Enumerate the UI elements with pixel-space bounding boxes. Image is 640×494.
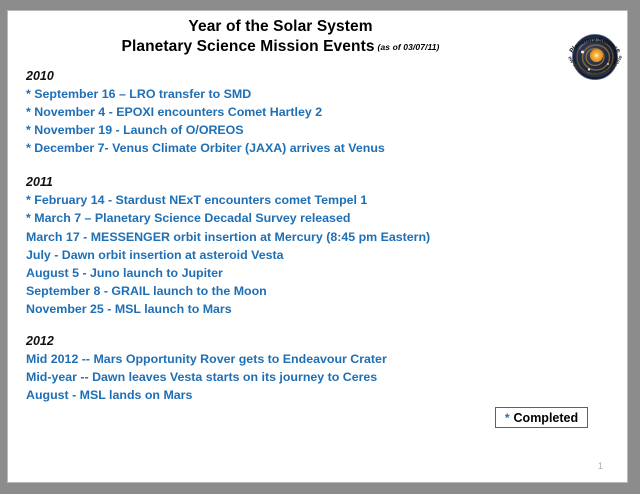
slide-page: Year of the Solar System Planetary Scien…: [7, 10, 628, 483]
page-number: 1: [598, 461, 603, 472]
as-of-date: (as of 03/07/11): [378, 42, 440, 52]
event-item: * December 7- Venus Climate Orbiter (JAX…: [26, 139, 616, 157]
screenshot-viewport: Year of the Solar System Planetary Scien…: [0, 0, 640, 494]
event-item: November 25 - MSL launch to Mars: [26, 300, 616, 318]
event-item: March 17 - MESSENGER orbit insertion at …: [26, 228, 616, 246]
event-item: * March 7 – Planetary Science Decadal Su…: [26, 209, 616, 227]
event-item: Mid 2012 -- Mars Opportunity Rover gets …: [26, 350, 616, 368]
logo-planet-dot-1: [581, 51, 584, 54]
legend-asterisk-icon: *: [505, 411, 510, 425]
event-item: * September 16 – LRO transfer to SMD: [26, 85, 616, 103]
logo-core: [590, 49, 603, 62]
year-heading-2011: 2011: [26, 173, 616, 191]
event-item: August 5 - Juno launch to Jupiter: [26, 264, 616, 282]
event-item: August - MSL lands on Mars: [26, 386, 616, 404]
event-item: July - Dawn orbit insertion at asteroid …: [26, 246, 616, 264]
event-item: * November 19 - Launch of O/OREOS: [26, 121, 616, 139]
title-block: Year of the Solar System Planetary Scien…: [8, 17, 553, 57]
logo-planet-dot-3: [607, 63, 609, 65]
event-item: * February 14 - Stardust NExT encounters…: [26, 191, 616, 209]
section-spacer: [26, 318, 616, 332]
slide-header: Year of the Solar System Planetary Scien…: [8, 11, 627, 73]
completed-legend-box: * Completed: [495, 407, 588, 428]
page-title-line2-main: Planetary Science Mission Events: [122, 38, 375, 55]
page-title-line2: Planetary Science Mission Events(as of 0…: [8, 37, 553, 57]
year-heading-2010: 2010: [26, 67, 616, 85]
event-item: September 8 - GRAIL launch to the Moon: [26, 282, 616, 300]
legend-label: Completed: [514, 411, 579, 425]
year-heading-2012: 2012: [26, 332, 616, 350]
event-item: Mid-year -- Dawn leaves Vesta starts on …: [26, 368, 616, 386]
event-item: * November 4 - EPOXI encounters Comet Ha…: [26, 103, 616, 121]
mission-events-list: 2010 * September 16 – LRO transfer to SM…: [26, 67, 616, 404]
section-spacer: [26, 157, 616, 173]
page-title-line1: Year of the Solar System: [8, 17, 553, 37]
